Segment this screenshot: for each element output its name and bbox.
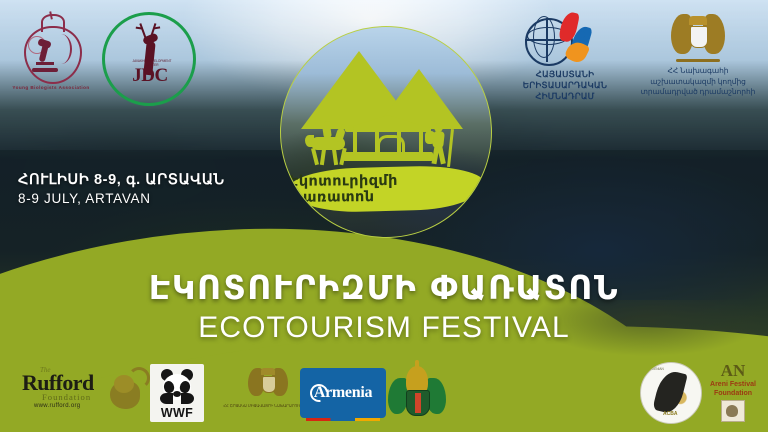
- yba-caption: Young Biologists Association: [8, 85, 94, 90]
- grant-line-1: ՀՀ Նախագահի: [628, 66, 768, 77]
- sponsor-logo-row: The Rufford Foundation www.rufford.org W…: [0, 358, 768, 432]
- areni-line-1: Areni Festival: [700, 380, 766, 389]
- tiger-icon: [104, 367, 146, 413]
- hiker-icon: [425, 123, 461, 169]
- emblem-circle: Էկոտուրիզմի փառատոն: [280, 26, 492, 238]
- wwf-logo: WWF: [150, 364, 204, 422]
- acba-bird-logo: ARMENIAN ACBA: [640, 362, 702, 424]
- grant-line-3: տրամադրված դրամաշնորհի: [628, 87, 768, 98]
- wwf-abbr: WWF: [150, 406, 204, 420]
- yfa-line-2: ԵՐԻՏԱՍԱՐԴԱԿԱՆ: [500, 80, 630, 91]
- jdc-abbr: JDC: [123, 65, 177, 87]
- event-date-location: ՀՈՒԼԻՍԻ 8-9, գ. ԱՐՏԱՎԱՆ 8-9 JULY, ARTAVA…: [18, 172, 225, 206]
- armenia-tourism-logo: Armenia: [300, 368, 386, 418]
- areni-monogram: AN: [700, 362, 766, 379]
- yfa-line-1: ՀԱՅԱՍՏԱՆԻ: [500, 69, 630, 80]
- jdc-logo: JAVAKHK DEVELOPMENT CENTER JDC: [95, 12, 203, 106]
- areni-festival-foundation-logo: AN Areni Festival Foundation: [700, 362, 766, 424]
- presidential-grant-logo: ՀՀ Նախագահի աշխատակազմի կողմից տրամադրվա…: [628, 12, 768, 98]
- deer-ring-icon: JAVAKHK DEVELOPMENT CENTER JDC: [102, 12, 196, 106]
- areni-vessel-icon: [721, 400, 745, 422]
- pomegranate-microscope-icon: [20, 14, 82, 82]
- title-armenian: ԷԿՈՏՈՒՐԻԶՄԻ ՓԱՌԱՏՈՆ: [0, 268, 768, 308]
- rufford-foundation-logo: The Rufford Foundation www.rufford.org: [20, 364, 150, 420]
- date-armenian: ՀՈՒԼԻՍԻ 8-9, գ. ԱՐՏԱՎԱՆ: [18, 172, 225, 188]
- grant-line-2: աշխատակազմի կողմից: [628, 77, 768, 88]
- armenia-flag-stripe: [306, 418, 380, 421]
- armenia-coat-of-arms-icon: [670, 12, 726, 64]
- acba-ring-text: ARMENIAN: [647, 367, 664, 371]
- pavilion-icon: [351, 115, 425, 163]
- acba-abbr: ACBA: [663, 411, 677, 417]
- horse-rider-icon: [303, 119, 355, 167]
- yfa-line-3: ՀԻՄՆԱԴՐԱՄ: [500, 91, 630, 102]
- ecotourism-festival-poster: Young Biologists Association JAVAKHK DEV…: [0, 0, 768, 432]
- ministry-coat-of-arms-icon: [248, 366, 288, 402]
- rufford-url: www.rufford.org: [34, 403, 80, 409]
- emblem-ribbon-text: Էկոտուրիզմի փառատոն: [289, 172, 485, 206]
- date-english: 8-9 JULY, ARTAVAN: [18, 191, 225, 206]
- rufford-foundation-word: Foundation: [42, 392, 91, 402]
- panda-icon: [159, 369, 195, 405]
- festival-title-block: ԷԿՈՏՈՒՐԻԶՄԻ ՓԱՌԱՏՈՆ ECOTOURISM FESTIVAL: [0, 268, 768, 346]
- areni-line-2: Foundation: [700, 389, 766, 398]
- young-biologists-association-logo: Young Biologists Association: [8, 14, 94, 90]
- emblem-ribbon: Էկոտուրիզմի փառատոն: [288, 164, 485, 213]
- globe-flame-icon: [521, 12, 609, 68]
- scouts-emblem-logo: [388, 364, 446, 422]
- festival-emblem: Էկոտուրիզմի փառատոն: [280, 26, 492, 238]
- scouts-shield-icon: [406, 390, 430, 416]
- title-english: ECOTOURISM FESTIVAL: [0, 310, 768, 346]
- youth-foundation-armenia-logo: ՀԱՅԱՍՏԱՆԻ ԵՐԻՏԱՍԱՐԴԱԿԱՆ ՀԻՄՆԱԴՐԱՄ: [500, 12, 630, 102]
